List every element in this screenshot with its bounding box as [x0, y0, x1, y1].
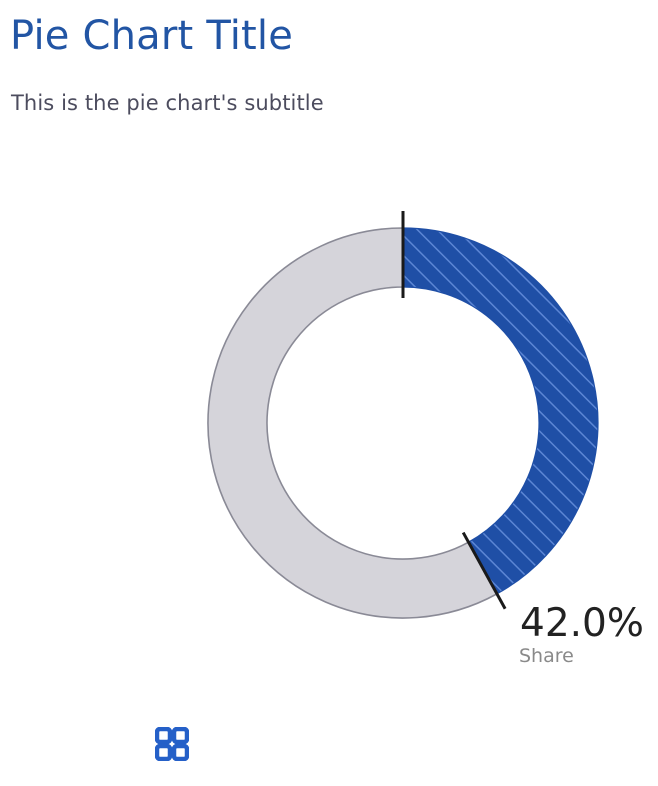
grid-icon — [155, 727, 189, 761]
share-series-label: Share — [519, 644, 574, 668]
plot-area: 42.0% Share — [0, 150, 658, 690]
pie-chart-panel: Pie Chart Title This is the pie chart's … — [0, 0, 658, 786]
pie-slice-share[interactable] — [403, 228, 598, 594]
chart-subtitle: This is the pie chart's subtitle — [11, 90, 324, 116]
share-value-label: 42.0% — [520, 602, 644, 646]
chart-title: Pie Chart Title — [10, 13, 293, 59]
grid-view-button[interactable] — [155, 727, 189, 761]
